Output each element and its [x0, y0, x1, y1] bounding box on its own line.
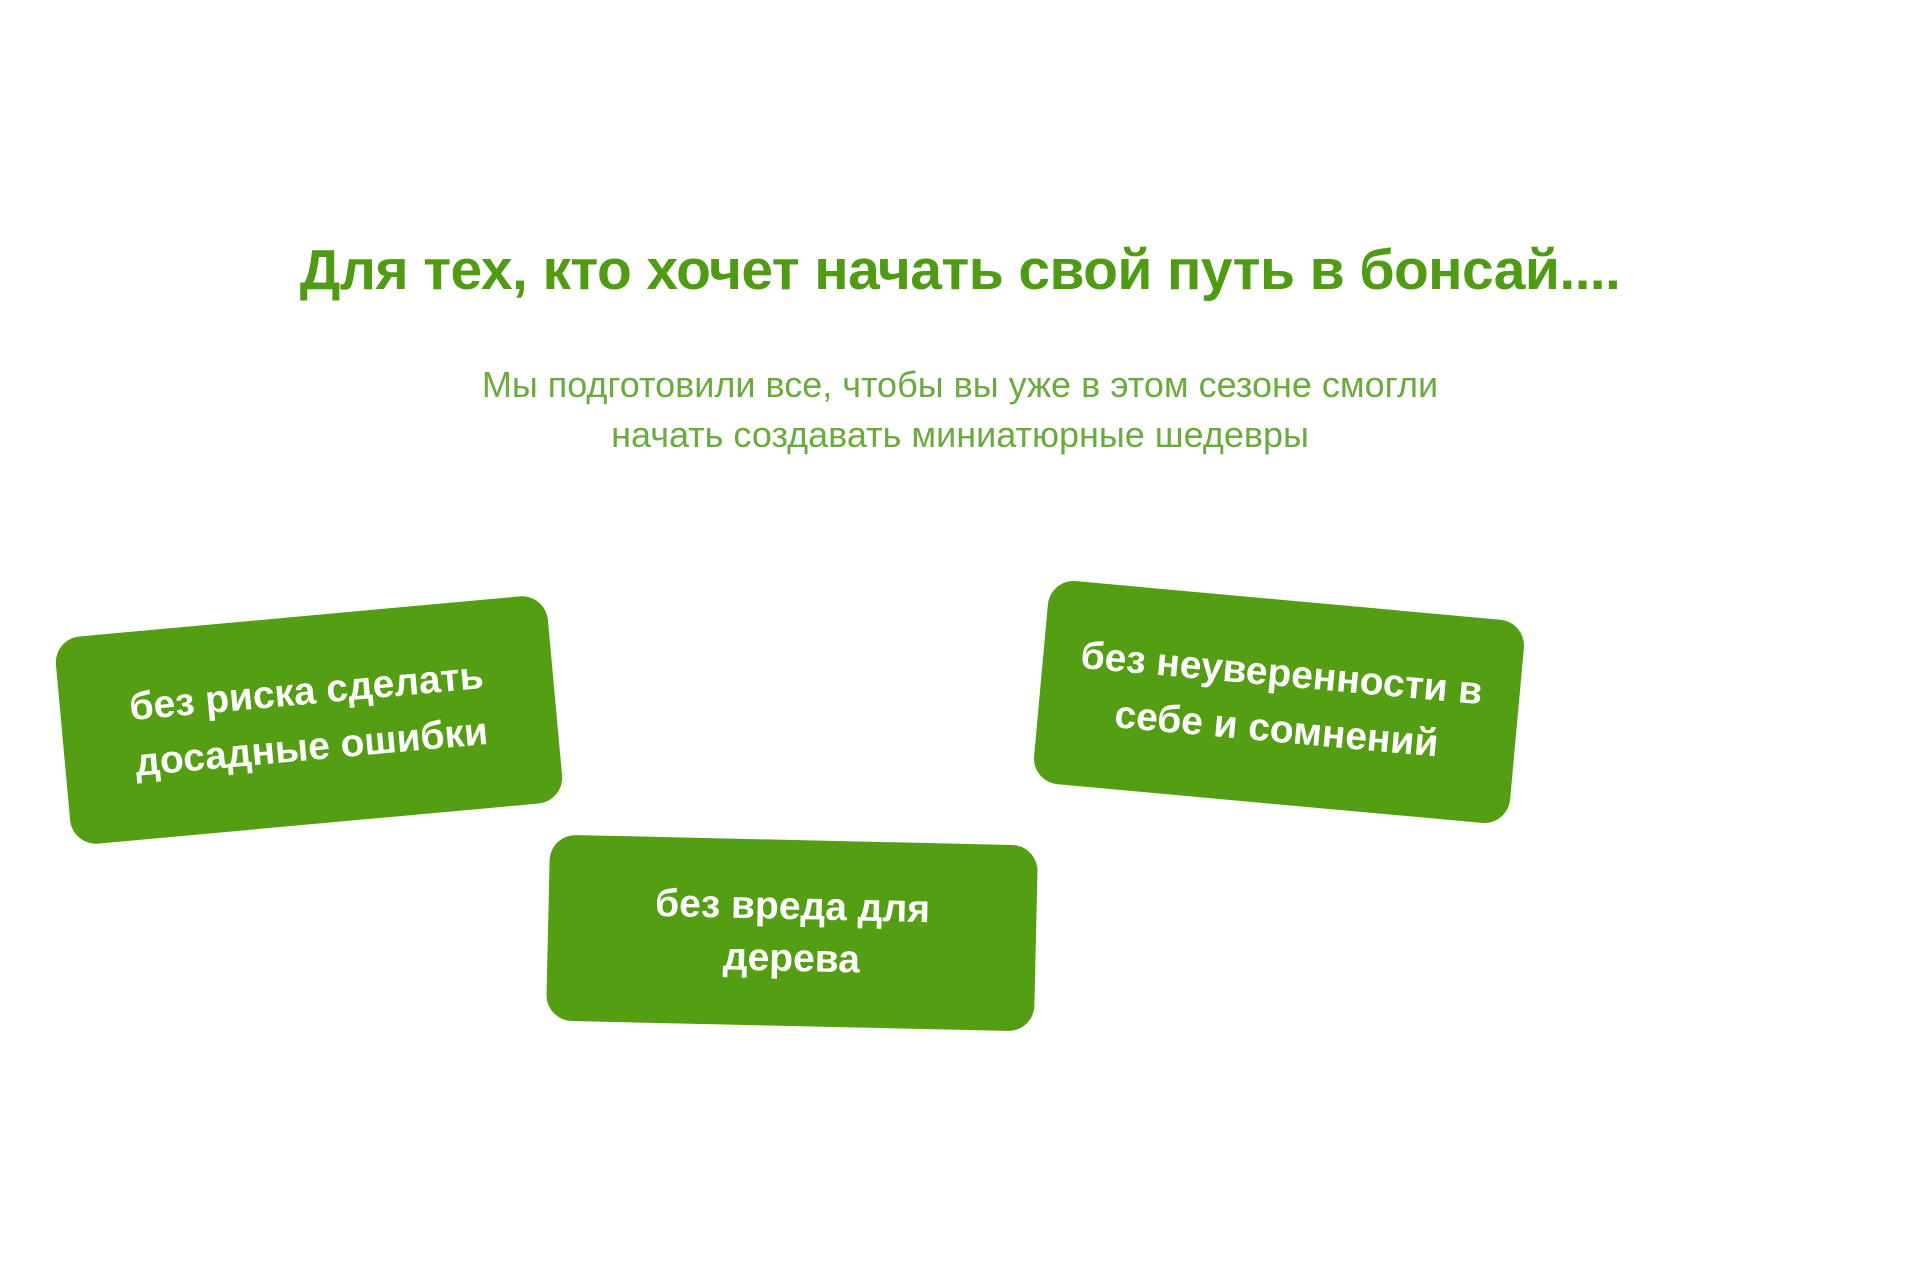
badge-no-risk-label: без риска сделать досадные ошибки	[92, 645, 526, 795]
page-subtitle-line-1: Мы подготовили все, чтобы вы уже в этом …	[0, 360, 1920, 410]
badge-no-harm-to-tree-label: без вреда для дерева	[581, 876, 1003, 990]
page-subtitle: Мы подготовили все, чтобы вы уже в этом …	[0, 360, 1920, 460]
badge-no-risk: без риска сделать досадные ошибки	[54, 594, 565, 846]
badge-no-harm-to-tree: без вреда для дерева	[546, 834, 1038, 1031]
badge-no-self-doubt-label: без неуверенности в себе и сомнений	[1070, 628, 1488, 777]
promo-section: Для тех, кто хочет начать свой путь в бо…	[0, 0, 1920, 1280]
badge-no-self-doubt: без неуверенности в себе и сомнений	[1032, 579, 1527, 825]
page-title: Для тех, кто хочет начать свой путь в бо…	[0, 238, 1920, 302]
page-subtitle-line-2: начать создавать миниатюрные шедевры	[0, 410, 1920, 460]
